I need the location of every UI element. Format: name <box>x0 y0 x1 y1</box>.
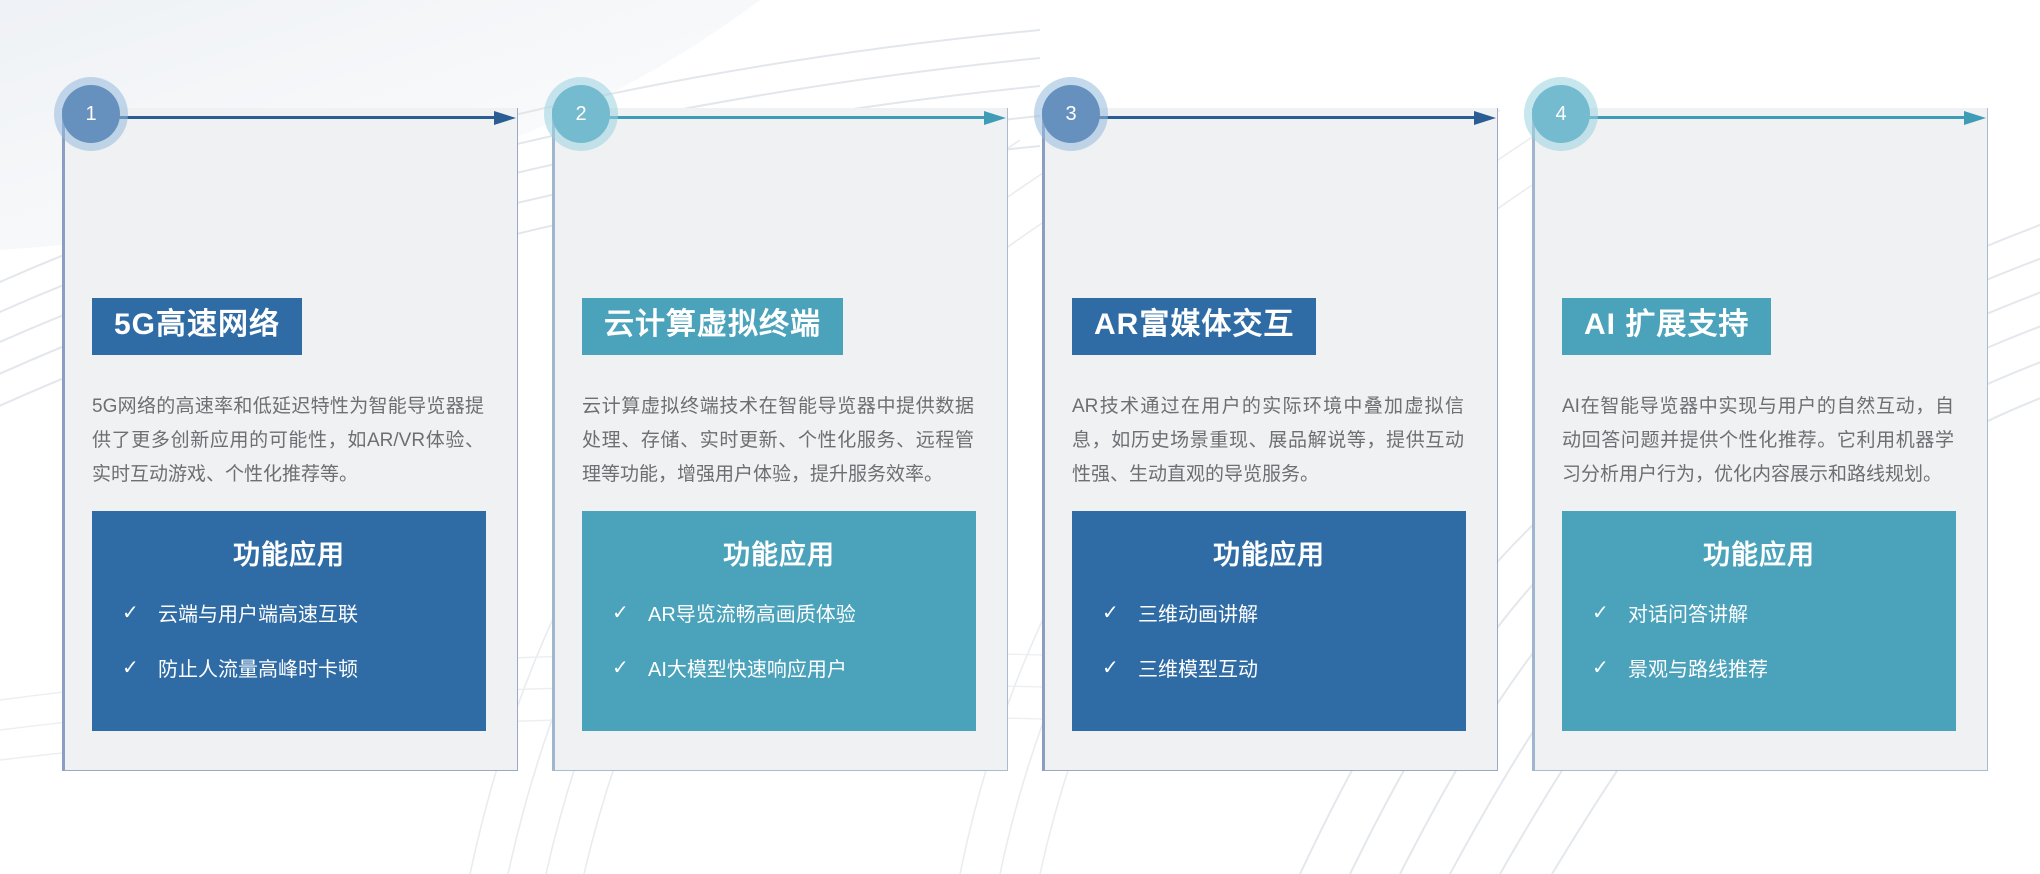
feature-item-label: AR导览流畅高画质体验 <box>638 598 856 627</box>
step-number-label: 3 <box>1065 103 1076 126</box>
feature-panel-title-4: 功能应用 <box>1562 533 1956 572</box>
step-number-label: 4 <box>1555 103 1566 126</box>
arrow-bar <box>554 116 984 119</box>
card-body-2: 云计算虚拟终端技术在智能导览器中提供数据处理、存储、实时更新、个性化服务、远程管… <box>582 390 974 492</box>
check-icon: ✓ <box>1102 603 1128 623</box>
check-icon: ✓ <box>612 603 638 623</box>
step-number-badge-1[interactable]: 1 <box>62 85 120 143</box>
feature-item[interactable]: ✓ 对话问答讲解 <box>1592 598 1956 627</box>
card-body-4: AI在智能导览器中实现与用户的自然互动，自动回答问题并提供个性化推荐。它利用机器… <box>1562 390 1954 492</box>
step-number-badge-2[interactable]: 2 <box>552 85 610 143</box>
feature-panel-title-2: 功能应用 <box>582 533 976 572</box>
check-icon: ✓ <box>1102 658 1128 678</box>
feature-panel-1: 功能应用 ✓ 云端与用户端高速互联 ✓ 防止人流量高峰时卡顿 <box>92 511 486 731</box>
feature-item[interactable]: ✓ 云端与用户端高速互联 <box>122 598 486 627</box>
feature-list-2: ✓ AR导览流畅高画质体验 ✓ AI大模型快速响应用户 <box>582 598 976 682</box>
infographic-board: 1 5G高速网络 5G网络的高速率和低延迟特性为智能导览器提供了更多创新应用的可… <box>0 0 2040 874</box>
arrow-connector-3 <box>1044 111 1496 125</box>
check-icon: ✓ <box>1592 603 1618 623</box>
step-number-label: 2 <box>575 103 586 126</box>
feature-item-label: 三维动画讲解 <box>1128 598 1258 627</box>
card-body-3: AR技术通过在用户的实际环境中叠加虚拟信息，如历史场景重现、展品解说等，提供互动… <box>1072 390 1464 492</box>
arrow-head-icon <box>1474 111 1496 125</box>
card-4-content: AI 扩展支持 AI在智能导览器中实现与用户的自然互动，自动回答问题并提供个性化… <box>1532 108 1988 771</box>
arrow-connector-4 <box>1534 111 1986 125</box>
step-number-badge-3[interactable]: 3 <box>1042 85 1100 143</box>
check-icon: ✓ <box>1592 658 1618 678</box>
arrow-head-icon <box>1964 111 1986 125</box>
arrow-connector-1 <box>64 111 516 125</box>
card-title-1: 5G高速网络 <box>92 298 302 355</box>
feature-panel-title-3: 功能应用 <box>1072 533 1466 572</box>
arrow-head-icon <box>494 111 516 125</box>
arrow-bar <box>1044 116 1474 119</box>
feature-panel-2: 功能应用 ✓ AR导览流畅高画质体验 ✓ AI大模型快速响应用户 <box>582 511 976 731</box>
card-title-4: AI 扩展支持 <box>1562 298 1771 355</box>
feature-item-label: 三维模型互动 <box>1128 653 1258 682</box>
card-title-3: AR富媒体交互 <box>1072 298 1316 355</box>
check-icon: ✓ <box>122 603 148 623</box>
feature-panel-3: 功能应用 ✓ 三维动画讲解 ✓ 三维模型互动 <box>1072 511 1466 731</box>
card-2-content: 云计算虚拟终端 云计算虚拟终端技术在智能导览器中提供数据处理、存储、实时更新、个… <box>552 108 1008 771</box>
feature-list-1: ✓ 云端与用户端高速互联 ✓ 防止人流量高峰时卡顿 <box>92 598 486 682</box>
feature-item[interactable]: ✓ AI大模型快速响应用户 <box>612 653 976 682</box>
arrow-bar <box>1534 116 1964 119</box>
check-icon: ✓ <box>612 658 638 678</box>
arrow-head-icon <box>984 111 1006 125</box>
feature-list-4: ✓ 对话问答讲解 ✓ 景观与路线推荐 <box>1562 598 1956 682</box>
check-icon: ✓ <box>122 658 148 678</box>
feature-item[interactable]: ✓ AR导览流畅高画质体验 <box>612 598 976 627</box>
feature-list-3: ✓ 三维动画讲解 ✓ 三维模型互动 <box>1072 598 1466 682</box>
step-number-label: 1 <box>85 103 96 126</box>
card-body-1: 5G网络的高速率和低延迟特性为智能导览器提供了更多创新应用的可能性，如AR/VR… <box>92 390 484 492</box>
arrow-connector-2 <box>554 111 1006 125</box>
card-3-content: AR富媒体交互 AR技术通过在用户的实际环境中叠加虚拟信息，如历史场景重现、展品… <box>1042 108 1498 771</box>
feature-item[interactable]: ✓ 防止人流量高峰时卡顿 <box>122 653 486 682</box>
card-title-2: 云计算虚拟终端 <box>582 298 843 355</box>
feature-item[interactable]: ✓ 三维模型互动 <box>1102 653 1466 682</box>
feature-item-label: 云端与用户端高速互联 <box>148 598 358 627</box>
feature-item-label: 景观与路线推荐 <box>1618 653 1768 682</box>
feature-panel-title-1: 功能应用 <box>92 533 486 572</box>
step-number-badge-4[interactable]: 4 <box>1532 85 1590 143</box>
feature-item[interactable]: ✓ 景观与路线推荐 <box>1592 653 1956 682</box>
feature-panel-4: 功能应用 ✓ 对话问答讲解 ✓ 景观与路线推荐 <box>1562 511 1956 731</box>
feature-item-label: AI大模型快速响应用户 <box>638 653 847 682</box>
feature-item-label: 对话问答讲解 <box>1618 598 1748 627</box>
card-1-content: 5G高速网络 5G网络的高速率和低延迟特性为智能导览器提供了更多创新应用的可能性… <box>62 108 518 771</box>
feature-item[interactable]: ✓ 三维动画讲解 <box>1102 598 1466 627</box>
arrow-bar <box>64 116 494 119</box>
feature-item-label: 防止人流量高峰时卡顿 <box>148 653 358 682</box>
